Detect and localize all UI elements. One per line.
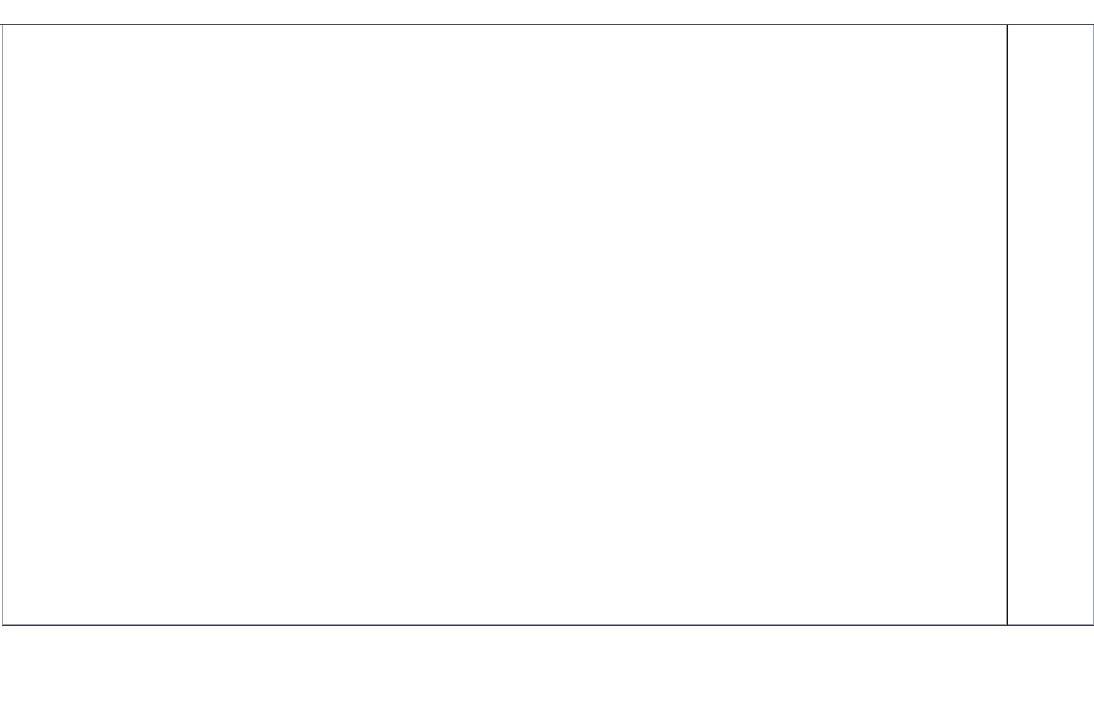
chart-header — [0, 0, 1094, 24]
chart-screenshot — [0, 0, 1094, 710]
price-scale[interactable] — [1007, 25, 1094, 625]
price-axis-line — [1007, 25, 1008, 625]
chart-canvas — [3, 25, 1006, 623]
chart-plot-frame[interactable] — [2, 25, 1007, 625]
x-axis-line — [2, 625, 1094, 626]
chart-svg — [3, 25, 1006, 623]
